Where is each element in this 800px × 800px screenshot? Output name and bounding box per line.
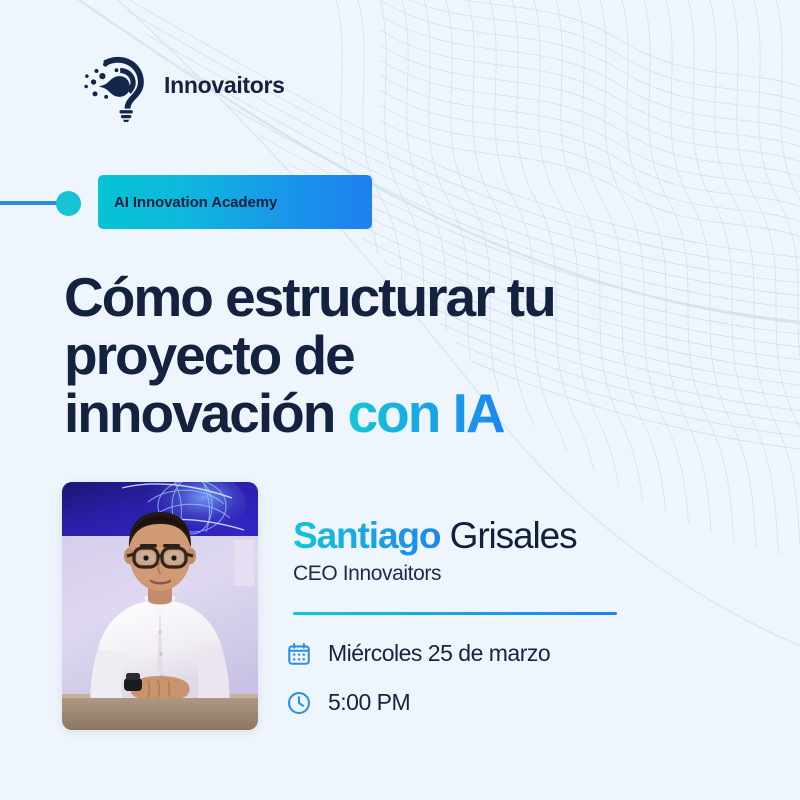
speaker-photo [62, 482, 258, 730]
speaker-name: Santiago Grisales [293, 514, 577, 558]
speaker-first-name: Santiago [293, 515, 440, 556]
section-divider [293, 612, 617, 615]
headline-line-2: proyecto de [64, 324, 354, 386]
calendar-icon [286, 641, 312, 667]
headline-line-1: Cómo estructurar tu [64, 266, 555, 328]
headline-line-3: innovación [64, 382, 348, 444]
event-time-label: 5:00 PM [328, 689, 410, 716]
headline-accent: con IA [348, 382, 504, 444]
badge-connector-dot-icon [56, 191, 81, 216]
badge-row: AI Innovation Academy [0, 175, 400, 229]
speaker-role: CEO Innovaitors [293, 562, 441, 586]
academy-badge-label: AI Innovation Academy [114, 194, 277, 211]
lightbulb-network-icon [78, 48, 152, 122]
brand-logo: Innovaitors [78, 48, 285, 122]
page-title: Cómo estructurar tu proyecto de innovaci… [64, 268, 684, 442]
event-time-row: 5:00 PM [286, 689, 410, 716]
event-date-row: Miércoles 25 de marzo [286, 640, 550, 667]
event-date-label: Miércoles 25 de marzo [328, 640, 550, 667]
clock-icon [286, 690, 312, 716]
speaker-last-name: Grisales [440, 515, 576, 556]
speaker-portrait-image [62, 482, 258, 730]
academy-badge[interactable]: AI Innovation Academy [98, 175, 372, 229]
brand-wordmark: Innovaitors [164, 72, 285, 99]
